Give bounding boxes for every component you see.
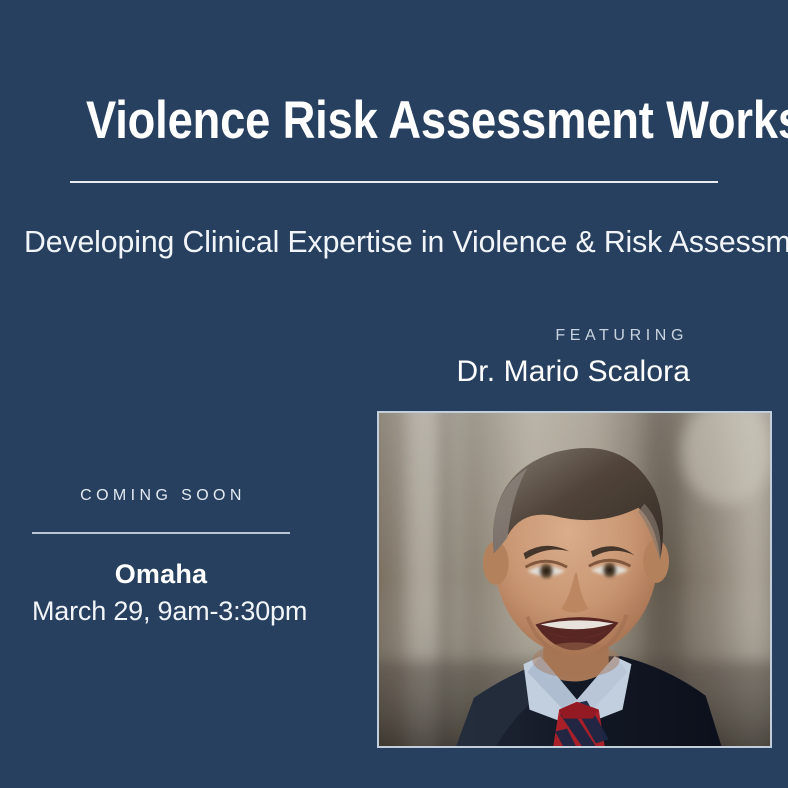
speaker-portrait-image <box>379 413 770 746</box>
status-badge: COMING SOON <box>32 486 290 506</box>
promo-poster: Violence Risk Assessment Workshop Develo… <box>0 0 788 788</box>
title-divider <box>70 181 718 183</box>
speaker-portrait-frame <box>377 411 772 748</box>
featuring-label: FEATURING <box>457 326 690 346</box>
portrait-illustration <box>379 413 770 746</box>
page-title: Violence Risk Assessment Workshop <box>86 92 633 150</box>
event-divider <box>32 532 290 534</box>
featuring-block: FEATURING Dr. Mario Scalora <box>457 326 690 390</box>
event-details-block: COMING SOON Omaha March 29, 9am-3:30pm <box>32 486 290 628</box>
event-city: Omaha <box>32 558 290 590</box>
page-subtitle: Developing Clinical Expertise in Violenc… <box>24 222 765 262</box>
event-date-time: March 29, 9am-3:30pm <box>32 594 290 628</box>
featured-speaker-name: Dr. Mario Scalora <box>457 354 690 390</box>
